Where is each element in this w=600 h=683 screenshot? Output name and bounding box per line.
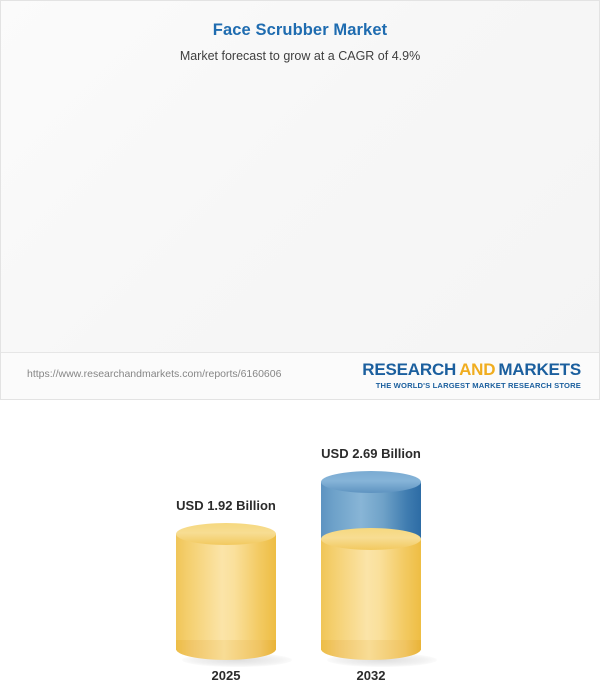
- chart-footer: https://www.researchandmarkets.com/repor…: [1, 352, 599, 399]
- logo-tagline: THE WORLD'S LARGEST MARKET RESEARCH STOR…: [362, 381, 581, 390]
- logo-word-research: RESEARCH: [362, 360, 456, 379]
- axis-label-2025: 2025: [156, 668, 296, 683]
- research-and-markets-logo[interactable]: RESEARCHANDMARKETS THE WORLD'S LARGEST M…: [362, 361, 581, 390]
- cylinder-segment-divider: [321, 528, 421, 550]
- cylinder-bottom-edge: [321, 640, 421, 660]
- cylinder-top-cap: [176, 523, 276, 545]
- bar-value-label: USD 2.69 Billion: [301, 446, 441, 461]
- logo-wordmark: RESEARCHANDMARKETS: [362, 361, 581, 379]
- cylinder-bottom-edge: [176, 640, 276, 660]
- bar-value-label: USD 1.92 Billion: [156, 498, 296, 513]
- chart-plot-area: USD 1.92 Billion 2025 USD 2.69 Billion: [1, 1, 600, 353]
- cylinder-2025[interactable]: [176, 523, 276, 660]
- cylinder-top-cap: [321, 471, 421, 493]
- logo-word-and: AND: [459, 360, 495, 379]
- axis-label-2032: 2032: [301, 668, 441, 683]
- cylinder-body-base: [176, 534, 276, 650]
- logo-word-markets: MARKETS: [498, 360, 581, 379]
- chart-card: Face Scrubber Market Market forecast to …: [0, 0, 600, 400]
- cylinder-body-base: [321, 534, 421, 650]
- cylinder-2032[interactable]: [321, 471, 421, 660]
- source-url[interactable]: https://www.researchandmarkets.com/repor…: [27, 368, 281, 380]
